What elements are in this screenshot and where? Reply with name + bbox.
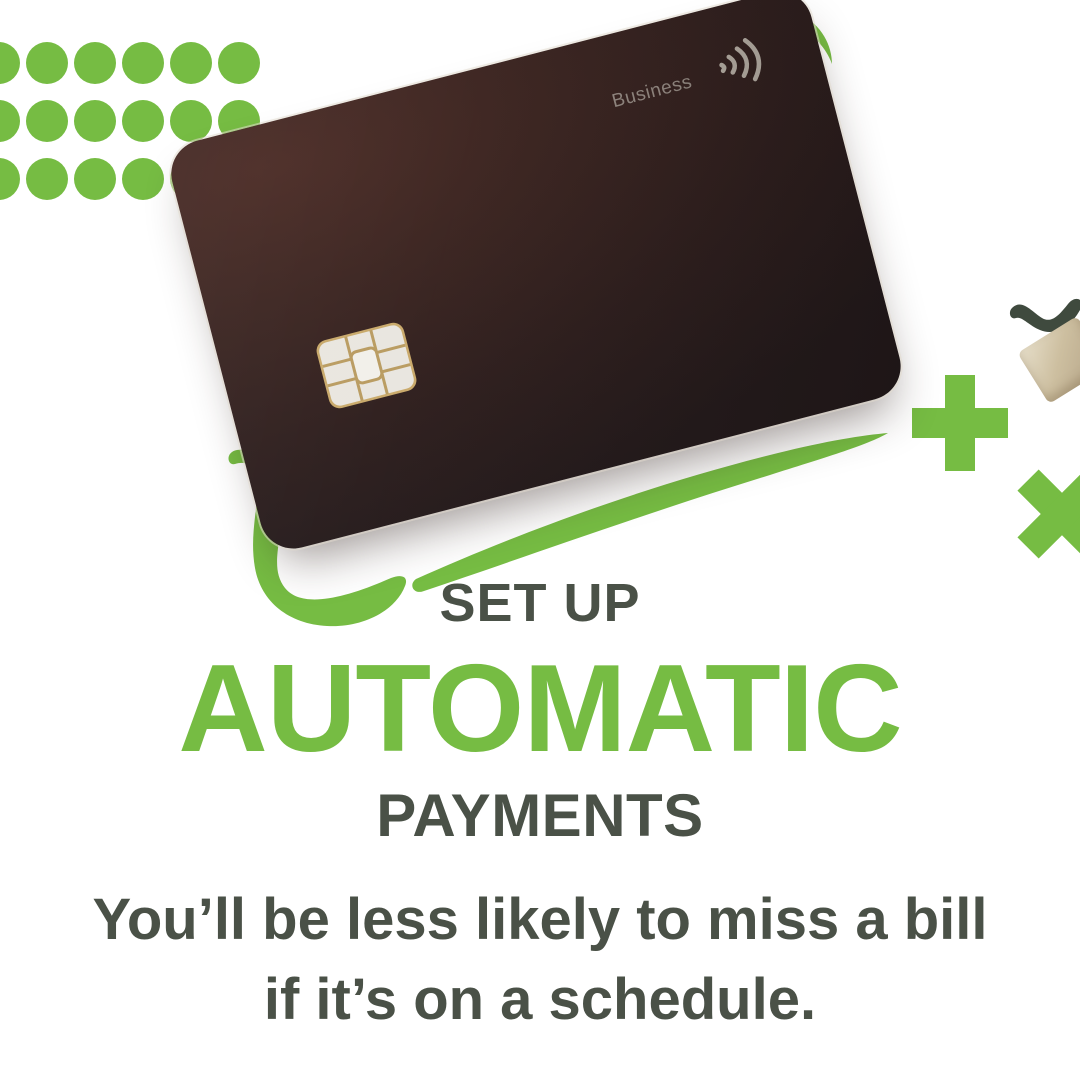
grid-dot <box>170 100 212 142</box>
subhead-text: PAYMENTS <box>0 786 1080 846</box>
grid-dot <box>26 42 68 84</box>
headline-text: AUTOMATIC <box>0 646 1080 772</box>
grid-dot <box>170 42 212 84</box>
grid-dot <box>26 100 68 142</box>
contactless-payment-icon <box>708 25 779 96</box>
grid-dot <box>218 42 260 84</box>
card-brand-label: Business <box>610 71 695 113</box>
grid-dot <box>26 158 68 200</box>
headline-block: SET UP AUTOMATIC PAYMENTS <box>0 576 1080 846</box>
credit-card-image: Business <box>164 0 908 556</box>
green-plus-decoration <box>912 375 1008 471</box>
grid-dot <box>122 42 164 84</box>
card-gloss-overlay <box>164 0 908 556</box>
plus-vertical-bar <box>945 375 975 471</box>
grid-dot <box>122 158 164 200</box>
grid-dot <box>74 100 116 142</box>
credit-card-face: Business <box>164 0 908 556</box>
body-copy-text: You’ll be less likely to miss a bill if … <box>0 880 1080 1040</box>
emv-chip-icon <box>313 319 420 412</box>
cropped-object-decoration <box>1017 316 1080 404</box>
grid-dot <box>0 158 20 200</box>
promo-graphic-canvas: Business <box>0 0 1080 1080</box>
grid-dot <box>0 42 20 84</box>
grid-dot <box>74 158 116 200</box>
eyebrow-text: SET UP <box>0 576 1080 630</box>
grid-dot <box>74 42 116 84</box>
grid-dot <box>0 100 20 142</box>
grid-dot <box>122 100 164 142</box>
